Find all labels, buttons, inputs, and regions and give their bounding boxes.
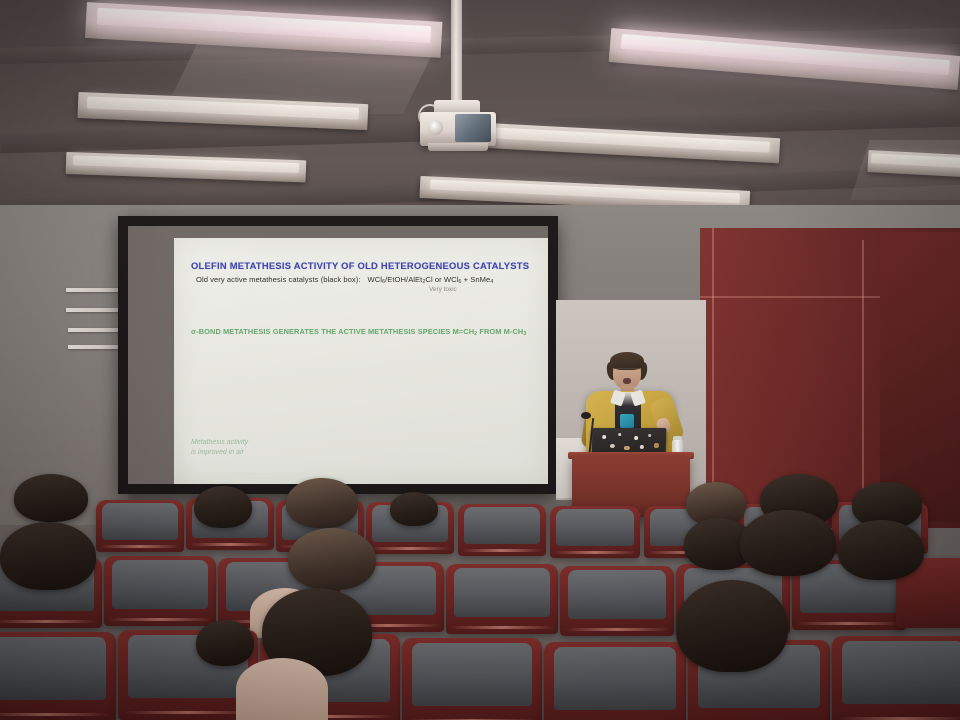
seat[interactable] [402, 638, 542, 720]
speaker-badge [620, 414, 634, 428]
wall-slat [66, 308, 122, 312]
wall-slat [68, 328, 122, 332]
audience-head [14, 474, 88, 522]
speaker-mouth [623, 378, 631, 384]
projector-vent [455, 114, 491, 142]
audience-head [194, 486, 252, 528]
slide-title: OLEFIN METATHESIS ACTIVITY OF OLD HETERO… [191, 260, 536, 271]
wall-slat [66, 288, 122, 292]
seat[interactable] [550, 506, 640, 558]
projection-screen[interactable]: OLEFIN METATHESIS ACTIVITY OF OLD HETERO… [118, 216, 558, 494]
presentation-slide: OLEFIN METATHESIS ACTIVITY OF OLD HETERO… [174, 238, 548, 484]
projector-base [428, 143, 488, 151]
microphone-icon [581, 412, 591, 419]
slide-footnote-line: is improved in air [191, 448, 248, 458]
audience-head [390, 492, 438, 526]
slide-toxic-note: Very toxic [429, 286, 457, 293]
green-part: σ-BOND METATHESIS GENERATES THE ACTIVE M… [191, 327, 474, 336]
slide-footnote: Metathesis activity is improved in air [191, 438, 248, 458]
projector-mount-pole [451, 0, 462, 105]
audience-head [196, 620, 254, 666]
audience-head [676, 580, 788, 672]
slide-formula: WCl6/EtOH/AlEt2Cl or WCl6 + SnMe4 [368, 275, 494, 284]
fluorescent-tube [871, 153, 960, 169]
slide-subtitle-lead: Old very active metathesis catalysts (bl… [196, 275, 361, 284]
screen-surface: OLEFIN METATHESIS ACTIVITY OF OLD HETERO… [128, 226, 548, 484]
audience-head [740, 510, 836, 576]
glasses-icon [614, 368, 640, 374]
audience-shoulder [236, 658, 328, 720]
slide-footnote-line: Metathesis activity [191, 438, 248, 448]
formula-part: Cl or WCl [425, 275, 458, 284]
audience-head [288, 528, 376, 590]
formula-part: WCl [368, 275, 383, 284]
green-part: FROM M-CH [477, 327, 523, 336]
seat[interactable] [0, 632, 116, 720]
projector-lens-icon [428, 120, 443, 135]
formula-part: /EtOH/AlEt [385, 275, 422, 284]
seat[interactable] [104, 556, 216, 626]
wall-slat [68, 345, 122, 349]
seat[interactable] [96, 500, 184, 552]
slide-subtitle: Old very active metathesis catalysts (bl… [196, 275, 541, 285]
fluorescent-tube [73, 155, 299, 173]
audience-head [838, 520, 924, 580]
audience-head [0, 522, 96, 590]
seat[interactable] [446, 564, 558, 634]
seat[interactable] [544, 642, 686, 720]
seat[interactable] [560, 566, 674, 636]
lecture-hall-scene: OLEFIN METATHESIS ACTIVITY OF OLD HETERO… [0, 0, 960, 720]
formula-part: + SnMe [461, 275, 490, 284]
audience-head [286, 478, 358, 528]
seat[interactable] [458, 504, 546, 556]
green-sub: 3 [523, 331, 526, 337]
audience-seating [0, 470, 960, 720]
slide-green-statement: σ-BOND METATHESIS GENERATES THE ACTIVE M… [191, 327, 541, 337]
formula-sub: 4 [490, 279, 493, 285]
seat[interactable] [832, 636, 960, 720]
